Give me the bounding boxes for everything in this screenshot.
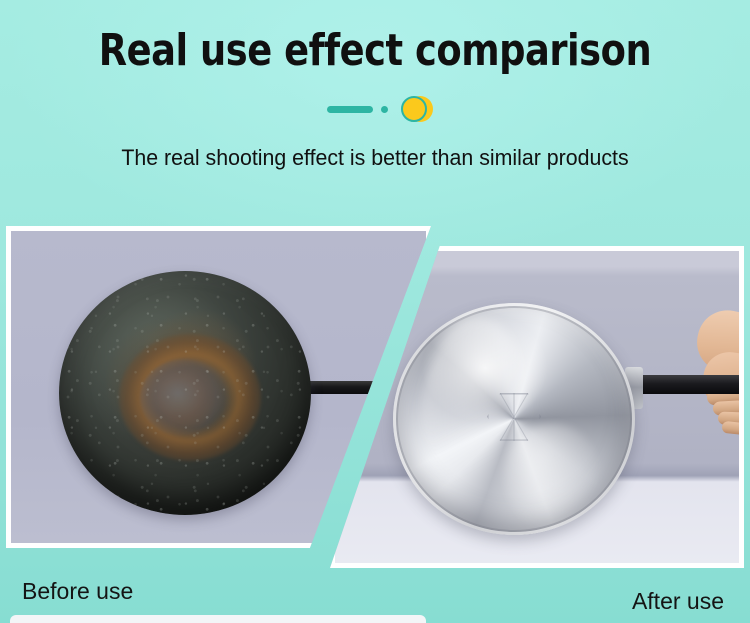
before-wok-body — [59, 271, 311, 515]
page-title: Real use effect comparison — [26, 24, 724, 78]
after-wok-hex-lines — [487, 393, 541, 441]
header-section: Real use effect comparison The real shoo… — [0, 0, 750, 172]
promo-comparison-page: Real use effect comparison The real shoo… — [0, 0, 750, 623]
dot-icon — [381, 106, 388, 113]
page-subtitle: The real shooting effect is better than … — [11, 144, 739, 172]
circle-overlap-icon — [401, 96, 427, 122]
next-section-peek — [10, 615, 426, 623]
dash-line-icon — [327, 106, 373, 113]
hand-holding-wok — [667, 307, 739, 427]
after-caption: After use — [632, 588, 724, 615]
before-caption: Before use — [22, 578, 133, 605]
decorative-divider — [315, 92, 435, 126]
after-wok-body — [393, 303, 635, 535]
after-wok-handle — [639, 375, 739, 394]
before-wok-texture — [59, 271, 311, 515]
